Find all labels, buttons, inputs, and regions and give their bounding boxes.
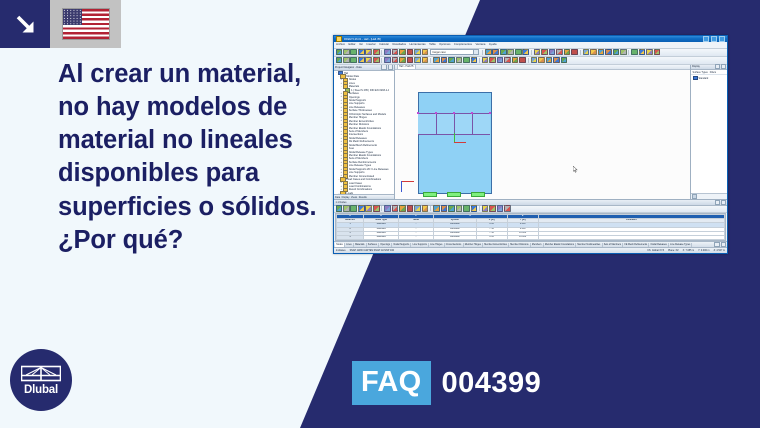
dlubal-logo: Dlubal [10, 349, 72, 411]
deselect-icon[interactable] [350, 57, 357, 64]
measure-icon[interactable] [456, 57, 463, 64]
select-window-icon[interactable] [343, 57, 350, 64]
area-icon[interactable] [471, 205, 478, 212]
display-panel: Display Surface Types Fillers Standard [691, 65, 727, 200]
headline-line: material no lineales [58, 124, 328, 157]
member-icon[interactable] [613, 49, 620, 56]
flag-graphic [62, 8, 110, 40]
trim-icon[interactable] [422, 57, 429, 64]
array-icon[interactable] [441, 57, 448, 64]
navigator-title: Project Navigator - Data [335, 66, 362, 69]
visibility-icon[interactable] [497, 205, 504, 212]
filter-icon[interactable] [504, 57, 511, 64]
support-icon[interactable] [639, 49, 646, 56]
surface-icon[interactable] [620, 49, 627, 56]
array-icon[interactable] [441, 205, 448, 212]
line-icon[interactable] [605, 49, 612, 56]
toolbar-separator [381, 58, 382, 63]
grid-icon[interactable] [571, 49, 578, 56]
menu-item-archivo[interactable]: Archivo [336, 43, 345, 46]
table-cell[interactable]: - [399, 235, 434, 239]
pin-icon[interactable] [381, 65, 386, 70]
load-case-combobox[interactable]: Cargar caso [430, 49, 479, 56]
headline-line: disponibles para [58, 157, 328, 190]
table-title: 1.1 Nodes [336, 201, 347, 204]
results-icon[interactable] [485, 49, 492, 56]
model-axis-triad [450, 133, 466, 145]
model-node[interactable] [417, 112, 419, 114]
isometric-icon[interactable] [549, 49, 556, 56]
model-surface-band[interactable] [418, 113, 490, 135]
status-y: Y: 0.000 m [698, 249, 709, 252]
model-support[interactable] [471, 192, 485, 197]
model-node[interactable] [453, 112, 455, 114]
render-icon[interactable] [414, 49, 421, 56]
connect-icon[interactable] [414, 57, 421, 64]
copy-object-icon[interactable] [392, 205, 399, 212]
toolbar-separator [482, 50, 483, 55]
copy-icon[interactable] [384, 49, 391, 56]
work-area: Hall - Hall.rf5 [395, 65, 691, 200]
menu-item-tabla[interactable]: Tabla [429, 43, 435, 46]
document-tab[interactable]: Hall - Hall.rf5 [397, 64, 416, 69]
view-side-icon[interactable] [541, 49, 548, 56]
zoom-window-icon[interactable] [500, 49, 507, 56]
dlubal-bridge-icon [21, 364, 61, 384]
ungroup-icon[interactable] [519, 57, 526, 64]
table-cell[interactable] [538, 235, 724, 239]
angle-icon[interactable] [463, 57, 470, 64]
trim-icon[interactable] [422, 205, 429, 212]
menu-item-calcular[interactable]: Calcular [379, 43, 389, 46]
menu-item-ventana[interactable]: Ventana [476, 43, 486, 46]
view-top-icon[interactable] [534, 49, 541, 56]
window-title: RFEM 5.26.01 - Hall - [Hall.rf5] [344, 38, 703, 41]
rotate-icon[interactable] [507, 49, 514, 56]
angle-icon[interactable] [463, 205, 470, 212]
layer-icon[interactable] [489, 205, 496, 212]
headline-line: no hay modelos de [58, 91, 328, 124]
layer-icon[interactable] [489, 57, 496, 64]
redo-icon[interactable] [407, 49, 414, 56]
status-z: Z: 4.547 m [714, 249, 725, 252]
status-bar: Indicates SNAP GRID CARTES SNAP GCSNP GW… [334, 247, 727, 253]
toolbar-separator [381, 206, 382, 211]
us-flag-icon [50, 0, 121, 48]
toolbar-separator [381, 50, 382, 55]
solid-object-icon[interactable] [631, 49, 638, 56]
extrude-icon[interactable] [399, 57, 406, 64]
settings-icon[interactable] [553, 57, 560, 64]
global-axis-triad [399, 179, 415, 193]
nodes-table[interactable]: A B C D E Node No. Node Type Node System [335, 213, 726, 241]
print-icon[interactable] [358, 49, 365, 56]
area-icon[interactable] [471, 57, 478, 64]
toolbar-separator [430, 206, 431, 211]
rotate-object-icon[interactable] [365, 205, 372, 212]
refresh-icon[interactable] [546, 57, 553, 64]
pin-icon[interactable] [715, 200, 720, 205]
visibility-icon[interactable] [497, 57, 504, 64]
snap-icon[interactable] [583, 49, 590, 56]
arrow-down-right-icon [0, 0, 50, 48]
model-node[interactable] [489, 112, 491, 114]
dlubal-wordmark: Dlubal [24, 385, 58, 397]
load-case-value: Cargar caso [432, 51, 446, 54]
display-panel-title: Display [692, 65, 700, 68]
table-pane: 1.1 Nodes A B [334, 199, 727, 253]
divide-icon[interactable] [407, 205, 414, 212]
undo-icon[interactable] [399, 49, 406, 56]
toolbar-separator [479, 58, 480, 63]
info-icon[interactable] [561, 57, 568, 64]
status-right: CS: Global XYZ Plane: XZ X: 7.085 m Y: 0… [647, 249, 725, 252]
table-body[interactable]: 1Standard-Cartesian0.000.0002Standard-Ca… [337, 223, 725, 239]
move-icon[interactable] [358, 205, 365, 212]
status-cs: CS: Global XYZ [647, 249, 664, 252]
model-support[interactable] [447, 192, 461, 197]
status-plane: Plane: XZ [668, 249, 679, 252]
menu-item-resultados[interactable]: Resultados [393, 43, 406, 46]
load-icon[interactable] [646, 49, 653, 56]
cog-icon[interactable] [482, 57, 489, 64]
headline-line: Al crear un material, [58, 58, 328, 91]
project-icon[interactable] [448, 57, 455, 64]
project-icon[interactable] [448, 205, 455, 212]
scale-icon[interactable] [384, 57, 391, 64]
pin-icon[interactable] [715, 64, 720, 69]
status-x: X: 7.085 m [683, 249, 695, 252]
extrude-icon[interactable] [399, 205, 406, 212]
wireframe-icon[interactable] [556, 49, 563, 56]
page-title: Al crear un material, no hay modelos de … [58, 58, 328, 257]
pan-icon[interactable] [515, 49, 522, 56]
model-node[interactable] [435, 112, 437, 114]
table-pane-buttons[interactable] [715, 200, 726, 205]
menu-item-ver[interactable]: Ver [359, 43, 363, 46]
close-icon[interactable] [721, 200, 726, 205]
model-canvas[interactable] [395, 70, 690, 199]
display-panel-body [691, 81, 727, 193]
faq-badge: FAQ [352, 361, 431, 405]
rotate-object-icon[interactable] [365, 57, 372, 64]
application-window: RFEM 5.26.01 - Hall - [Hall.rf5] Archivo… [333, 35, 728, 254]
table-row[interactable]: 4Standard-Cartesian0.0012.000 [337, 235, 725, 239]
app-body: Project Navigator - Data -Hall-Model Dat… [334, 65, 727, 200]
toolbar-primary[interactable]: Cargar caso [334, 49, 727, 57]
navigator-tab-results[interactable]: Results [359, 196, 367, 199]
menu-item-herramientas[interactable]: Herramientas [409, 43, 425, 46]
view-front-icon[interactable] [522, 49, 529, 56]
table-toolbar[interactable] [334, 206, 727, 213]
navigator-tab-data[interactable]: Data [335, 196, 340, 199]
cut-icon[interactable] [373, 49, 380, 56]
mirror-icon[interactable] [373, 57, 380, 64]
print-preview-icon[interactable] [365, 49, 372, 56]
table-cell[interactable]: Standard [364, 235, 399, 239]
measure-icon[interactable] [456, 205, 463, 212]
toolbar-separator [531, 50, 532, 55]
navigator-tab-display[interactable]: Display [342, 196, 350, 199]
paste-icon[interactable] [392, 49, 399, 56]
select-icon[interactable] [336, 205, 343, 212]
faq-footer: FAQ 004399 [352, 361, 541, 405]
navigator-pane-buttons[interactable] [381, 65, 393, 70]
connect-icon[interactable] [414, 205, 421, 212]
toolbar-separator [528, 58, 529, 63]
display-tab-fillers[interactable]: Fillers [710, 71, 716, 74]
filter-icon[interactable] [504, 205, 511, 212]
menu-item-editar[interactable]: Editar [348, 43, 355, 46]
toolbar-secondary[interactable] [334, 57, 727, 65]
group-icon[interactable] [512, 57, 519, 64]
calculate-icon[interactable] [422, 49, 429, 56]
toolbar-separator [628, 50, 629, 55]
copy-object-icon[interactable] [392, 57, 399, 64]
menu-item-ayuda[interactable]: Ayuda [489, 43, 497, 46]
model-node[interactable] [471, 112, 473, 114]
divide-icon[interactable] [407, 57, 414, 64]
status-center: SNAP GRID CARTES SNAP GCSNP GW [350, 249, 394, 252]
model-support[interactable] [423, 192, 437, 197]
zoom-all-icon[interactable] [492, 49, 499, 56]
toolbar-separator [430, 58, 431, 63]
status-left: Indicates [336, 249, 346, 252]
deselect-icon[interactable] [350, 205, 357, 212]
mouse-cursor-icon [573, 166, 578, 174]
dimension-icon[interactable] [590, 49, 597, 56]
table-cell[interactable]: 12.000 [507, 235, 538, 239]
color-swatch [693, 76, 698, 81]
navigator-tab-views[interactable]: Views [351, 196, 357, 199]
slide-root: Al crear un material, no hay modelos de … [0, 0, 760, 428]
headline-line: superficies o sólidos. [58, 191, 328, 224]
move-icon[interactable] [358, 57, 365, 64]
new-icon[interactable] [336, 49, 343, 56]
project-navigator: Project Navigator - Data -Hall-Model Dat… [334, 65, 395, 200]
cog-icon[interactable] [482, 205, 489, 212]
select-window-icon[interactable] [343, 205, 350, 212]
offset-icon[interactable] [433, 205, 440, 212]
close-icon[interactable] [388, 65, 393, 70]
display-panel-buttons[interactable] [715, 64, 726, 69]
help-icon[interactable] [654, 49, 661, 56]
menu-item-opciones[interactable]: Opciones [439, 43, 450, 46]
open-icon[interactable] [343, 49, 350, 56]
display-legend-label: Standard [699, 77, 709, 80]
mirror-icon[interactable] [373, 205, 380, 212]
menu-item-insertar[interactable]: Insertar [367, 43, 376, 46]
chevron-down-icon[interactable] [473, 50, 478, 55]
faq-number: 004399 [442, 369, 542, 398]
toolbar-separator [580, 50, 581, 55]
save-icon[interactable] [350, 49, 357, 56]
menu-item-complementos[interactable]: Complementos [454, 43, 472, 46]
navigator-tree[interactable]: -Hall-Model Data+Nodes+Lines-Materials1 … [334, 71, 394, 194]
solid-icon[interactable] [564, 49, 571, 56]
offset-icon[interactable] [433, 57, 440, 64]
unlock-icon[interactable] [538, 57, 545, 64]
display-tab-surface-types[interactable]: Surface Types [693, 71, 708, 74]
close-icon[interactable] [721, 64, 726, 69]
headline-line: ¿Por qué? [58, 224, 328, 257]
table-cell[interactable]: Cartesian [433, 235, 476, 239]
node-icon[interactable] [598, 49, 605, 56]
table-cell[interactable]: 0.00 [476, 235, 507, 239]
toolbar-separator [479, 206, 480, 211]
select-icon[interactable] [336, 57, 343, 64]
lock-icon[interactable] [531, 57, 538, 64]
scale-icon[interactable] [384, 205, 391, 212]
table-cell[interactable]: 4 [337, 235, 364, 239]
